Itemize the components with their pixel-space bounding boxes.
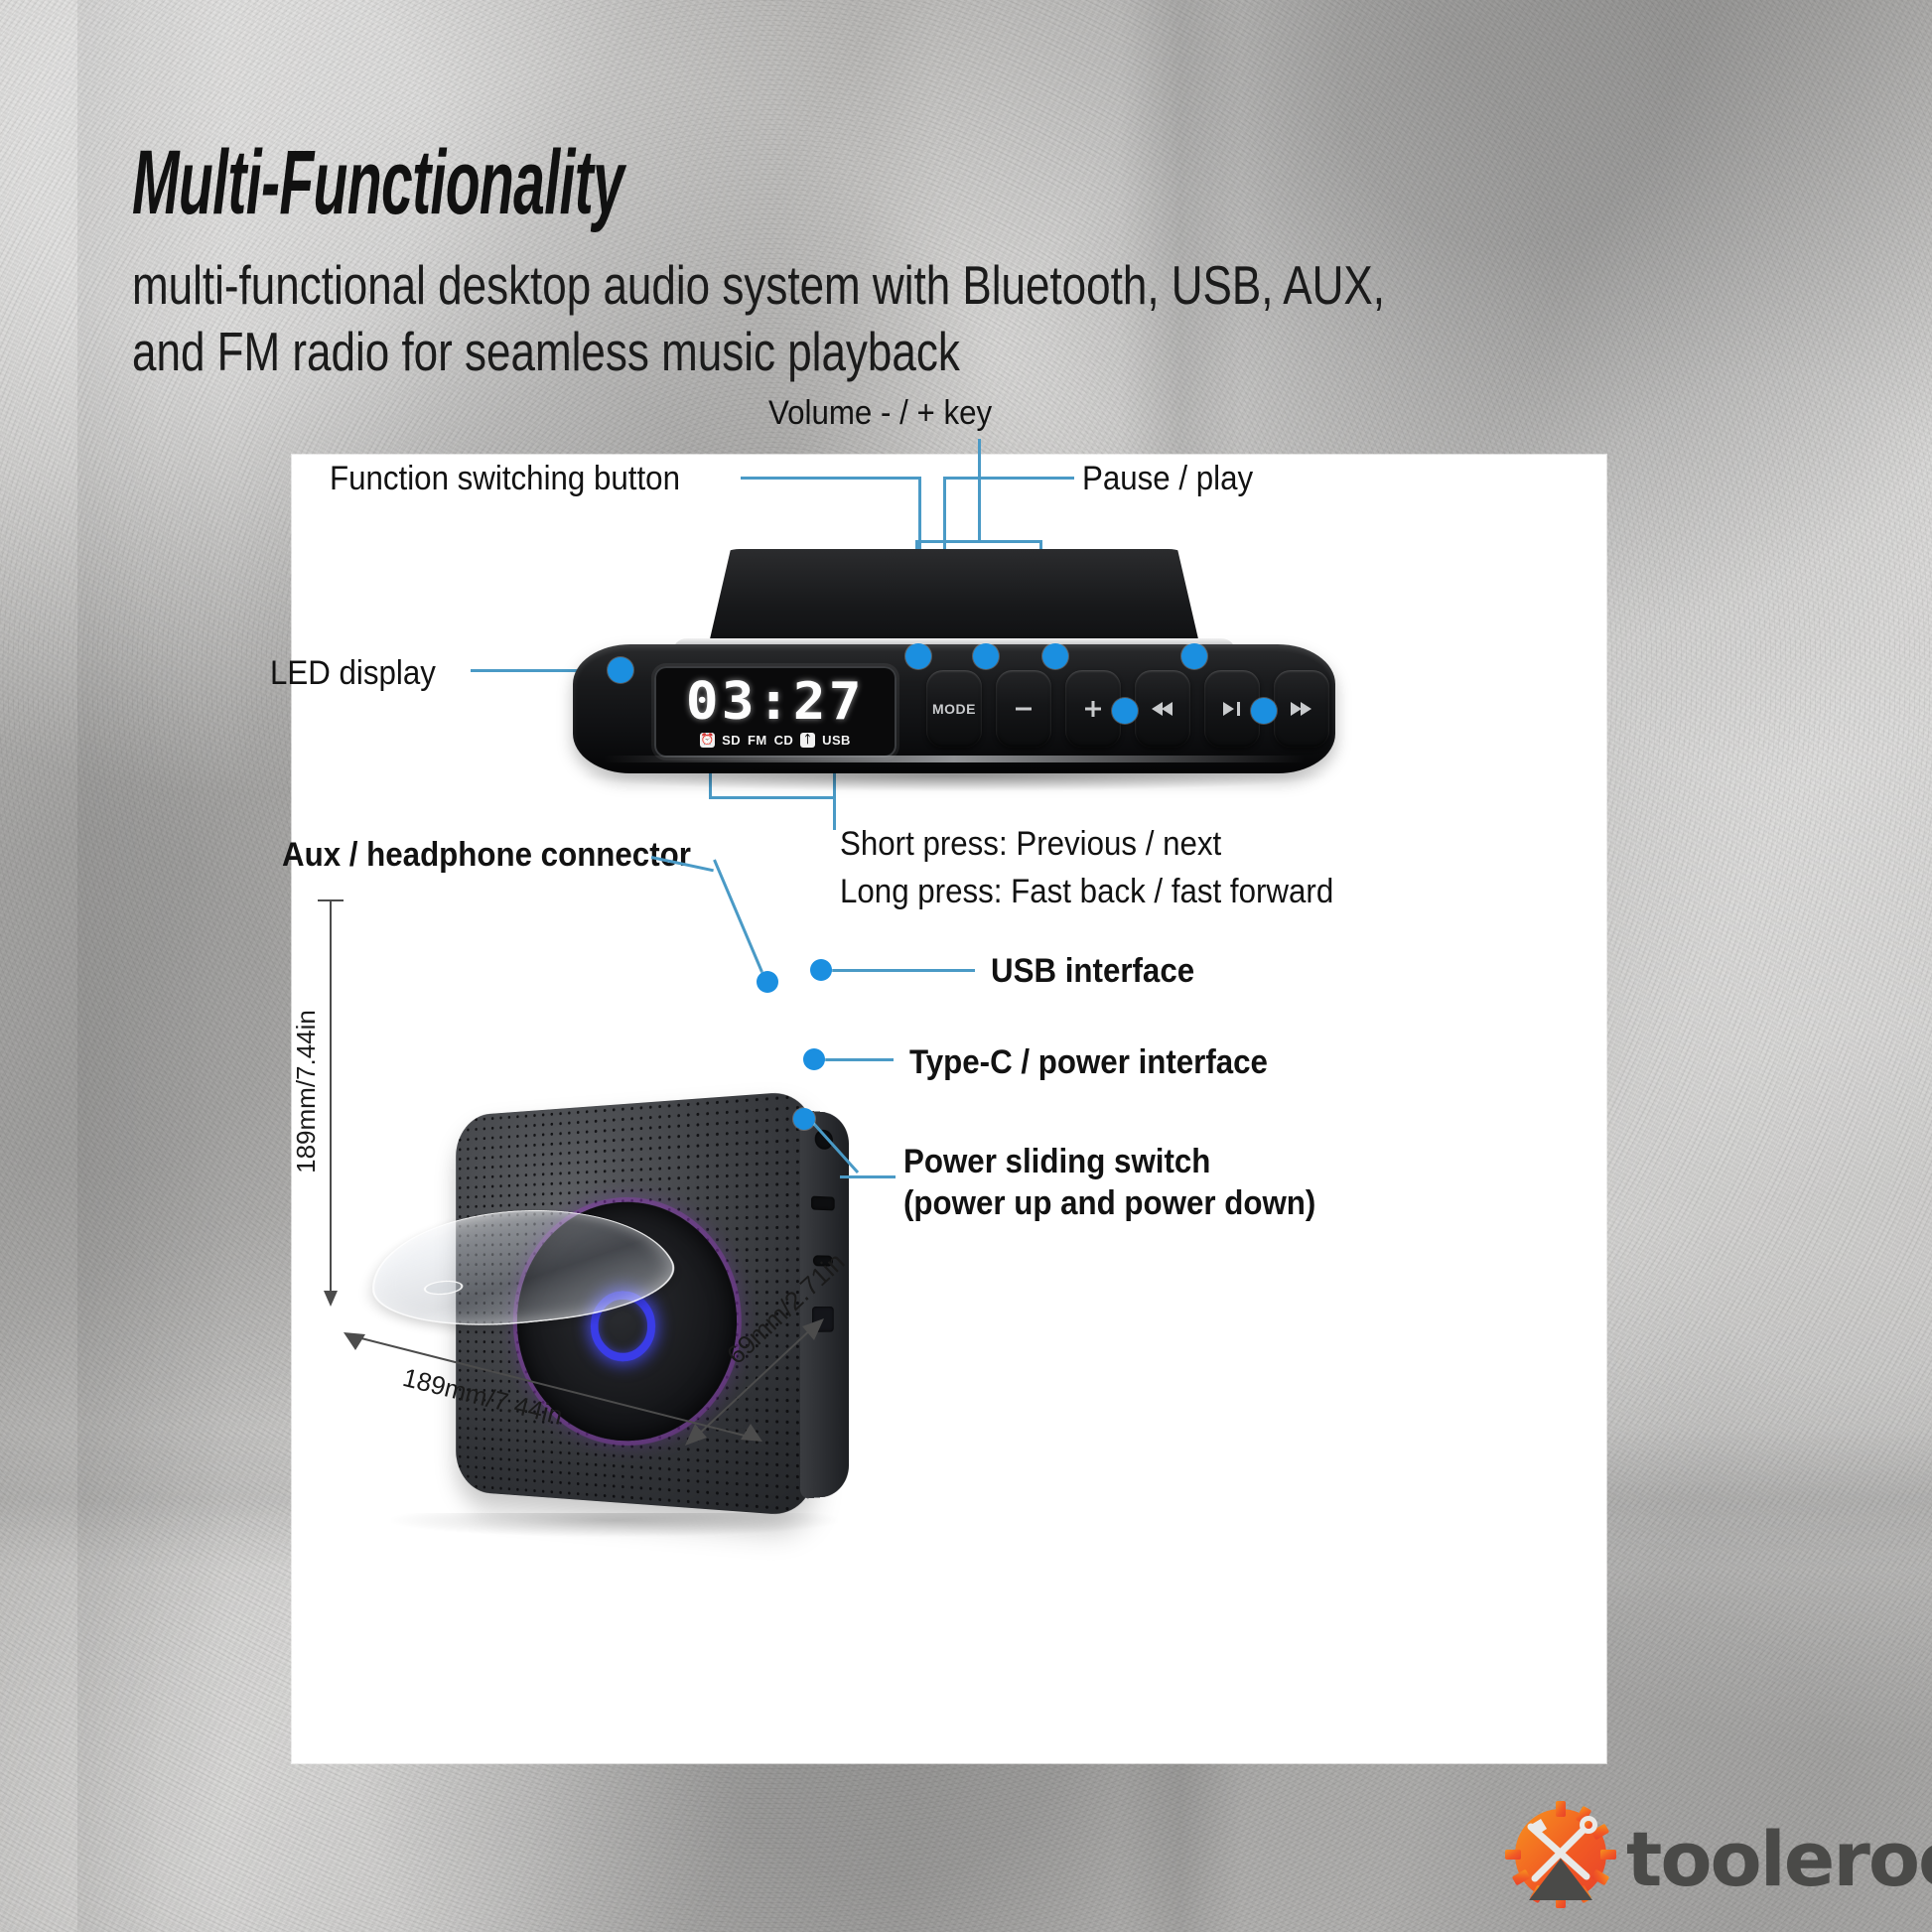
callout-function-switching-button: Function switching button	[330, 459, 680, 499]
device-top-shadow	[583, 765, 1325, 791]
usb-indicator: USB	[822, 733, 851, 748]
page-subtitle-line: multi-functional desktop audio system wi…	[132, 252, 1562, 319]
leader-line-aux-diag	[713, 859, 763, 973]
diagram-panel: Function switching button Volume - / + k…	[292, 455, 1606, 1763]
callout-short-press: Short press: Previous / next	[840, 824, 1221, 865]
dim-label-height: 189mm/7.44in	[291, 1010, 322, 1173]
callout-usb-interface: USB interface	[991, 951, 1194, 992]
callout-led-display: LED display	[270, 653, 436, 694]
logo-wordmark: tooleroo	[1626, 1815, 1932, 1903]
callout-power-sliding-switch: Power sliding switch	[903, 1142, 1210, 1182]
dot-usb-port	[810, 959, 832, 981]
leader-line-typec	[822, 1058, 894, 1061]
dot-typec-port	[803, 1048, 825, 1070]
leader-line-usb	[828, 969, 975, 972]
dot-next	[1251, 698, 1277, 724]
sd-indicator: SD	[722, 733, 741, 748]
leader-line-volume-branch	[915, 540, 1042, 543]
led-time-readout: 03:27	[686, 676, 865, 728]
fm-indicator: FM	[748, 733, 767, 748]
dot-play-pause	[1181, 643, 1207, 669]
dot-volume-up	[1042, 643, 1068, 669]
next-button[interactable]	[1274, 670, 1329, 748]
callout-volume-key: Volume - / + key	[768, 393, 992, 434]
mode-button[interactable]: MODE	[926, 670, 982, 748]
callout-long-press: Long press: Fast back / fast forward	[840, 872, 1333, 912]
volume-down-button[interactable]	[996, 670, 1051, 748]
dot-power-switch	[793, 1108, 815, 1130]
page-subtitle: multi-functional desktop audio system wi…	[132, 252, 1562, 385]
dot-mode-button	[905, 643, 931, 669]
device-top-view: 03:27 ⏰ SD FM CD ᛏ USB MODE	[543, 549, 1357, 807]
usb-port	[811, 1196, 835, 1211]
device-front-shadow	[391, 1513, 838, 1537]
dim-arrow-height-head	[320, 1285, 342, 1307]
header-block: Multi-Functionality multi-functional des…	[132, 139, 1601, 386]
previous-button[interactable]	[1135, 670, 1190, 748]
led-indicator-row: ⏰ SD FM CD ᛏ USB	[700, 733, 851, 748]
callout-aux-headphone: Aux / headphone connector	[282, 835, 691, 876]
leader-line-power	[840, 1175, 896, 1178]
dot-aux-port	[757, 971, 778, 993]
dot-previous	[1112, 698, 1138, 724]
bluetooth-icon: ᛏ	[800, 733, 815, 748]
led-display: 03:27 ⏰ SD FM CD ᛏ USB	[654, 666, 897, 758]
dot-volume-down	[973, 643, 999, 669]
callout-typec-power: Type-C / power interface	[909, 1042, 1268, 1083]
brand-logo: tooleroo	[1501, 1793, 1898, 1924]
callout-power-sliding-switch-note: (power up and power down)	[903, 1183, 1315, 1224]
dot-led-display	[608, 657, 633, 683]
cd-indicator: CD	[774, 733, 794, 748]
callout-pause-play: Pause / play	[1082, 459, 1253, 499]
alarm-icon: ⏰	[700, 733, 715, 748]
page-title: Multi-Functionality	[132, 139, 1043, 226]
leader-line-pause-play	[943, 477, 1074, 480]
leader-line-volume-stem	[978, 439, 981, 542]
tooleroo-gear-icon	[1501, 1797, 1620, 1916]
dim-arrow-height-cap-top	[318, 899, 344, 901]
device-top-body: 03:27 ⏰ SD FM CD ᛏ USB MODE	[573, 644, 1335, 773]
leader-line-function	[741, 477, 921, 480]
page-subtitle-line: and FM radio for seamless music playback	[132, 319, 1562, 385]
dim-arrow-height-line	[330, 899, 332, 1301]
